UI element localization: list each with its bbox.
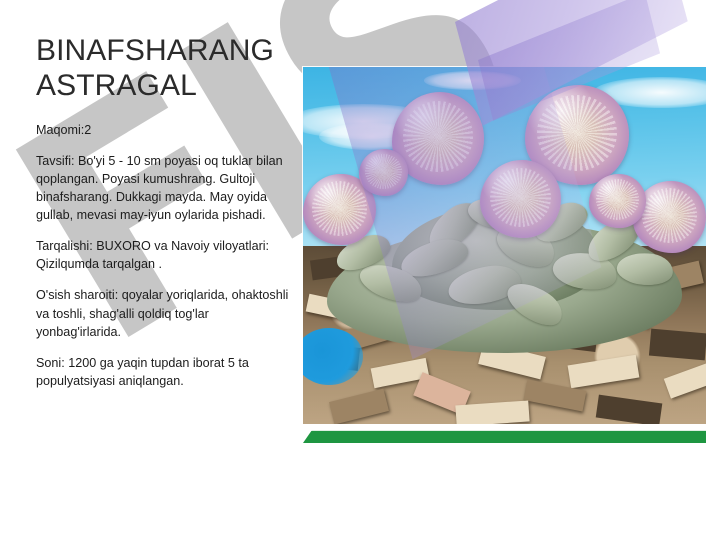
- rock: [596, 395, 663, 424]
- slide-text-column: BINAFSHARANG ASTRAGAL Maqomi:2 Tavsifi: …: [36, 34, 294, 390]
- page-title: BINAFSHARANG ASTRAGAL: [36, 34, 294, 104]
- flower-head: [359, 149, 407, 195]
- paragraph-tarqalishi: Tarqalishi: BUXORO va Navoiy viloyatlari…: [36, 237, 294, 273]
- rock: [455, 400, 529, 424]
- flower-head: [480, 160, 561, 239]
- photo-canvas: [303, 67, 706, 424]
- paragraph-osish-sharoiti: O'sish sharoiti: qoyalar yoriqlarida, oh…: [36, 286, 294, 340]
- green-accent-bar: [303, 430, 706, 443]
- rock: [663, 363, 706, 400]
- astragalus-flowers-photo: [303, 67, 706, 424]
- paragraph-soni: Soni: 1200 ga yaqin tupdan iborat 5 ta p…: [36, 354, 294, 390]
- rock: [568, 355, 639, 389]
- rock: [303, 343, 360, 372]
- paragraph-tavsifi: Tavsifi: Bo'yi 5 - 10 sm poyasi oq tukla…: [36, 152, 294, 225]
- rock: [329, 389, 389, 424]
- flower-head: [589, 174, 645, 228]
- cloud-icon: [424, 71, 521, 90]
- paragraph-maqomi: Maqomi:2: [36, 121, 294, 139]
- green-bar-highlight: [303, 429, 706, 431]
- rock: [649, 329, 706, 361]
